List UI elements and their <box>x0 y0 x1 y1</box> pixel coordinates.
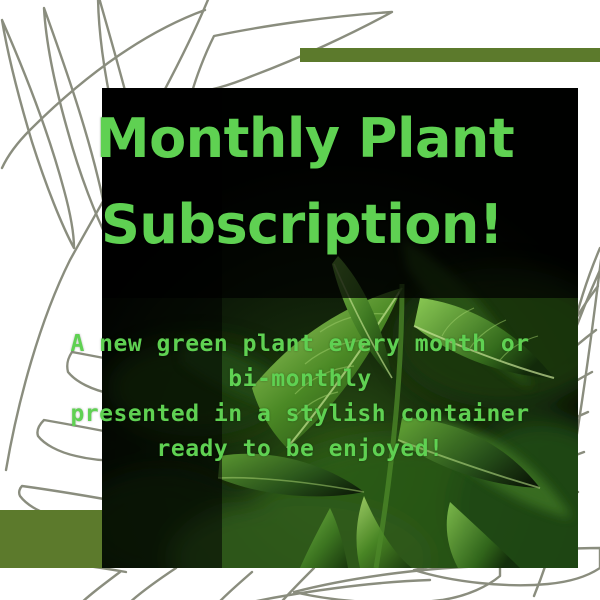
headline-line-1: Monthly Plant <box>0 96 600 182</box>
headline: Monthly Plant Subscription! <box>0 96 600 268</box>
poster-canvas: Monthly Plant Subscription! A new green … <box>0 0 600 600</box>
body-line-2: bi-monthly <box>0 362 600 397</box>
body-copy: A new green plant every month or bi-mont… <box>0 327 600 467</box>
body-line-1: A new green plant every month or <box>0 327 600 362</box>
body-line-4: ready to be enjoyed! <box>0 432 600 467</box>
olive-accent-bar-top <box>300 48 600 62</box>
headline-line-2: Subscription! <box>0 182 600 268</box>
body-line-3: presented in a stylish container <box>0 397 600 432</box>
